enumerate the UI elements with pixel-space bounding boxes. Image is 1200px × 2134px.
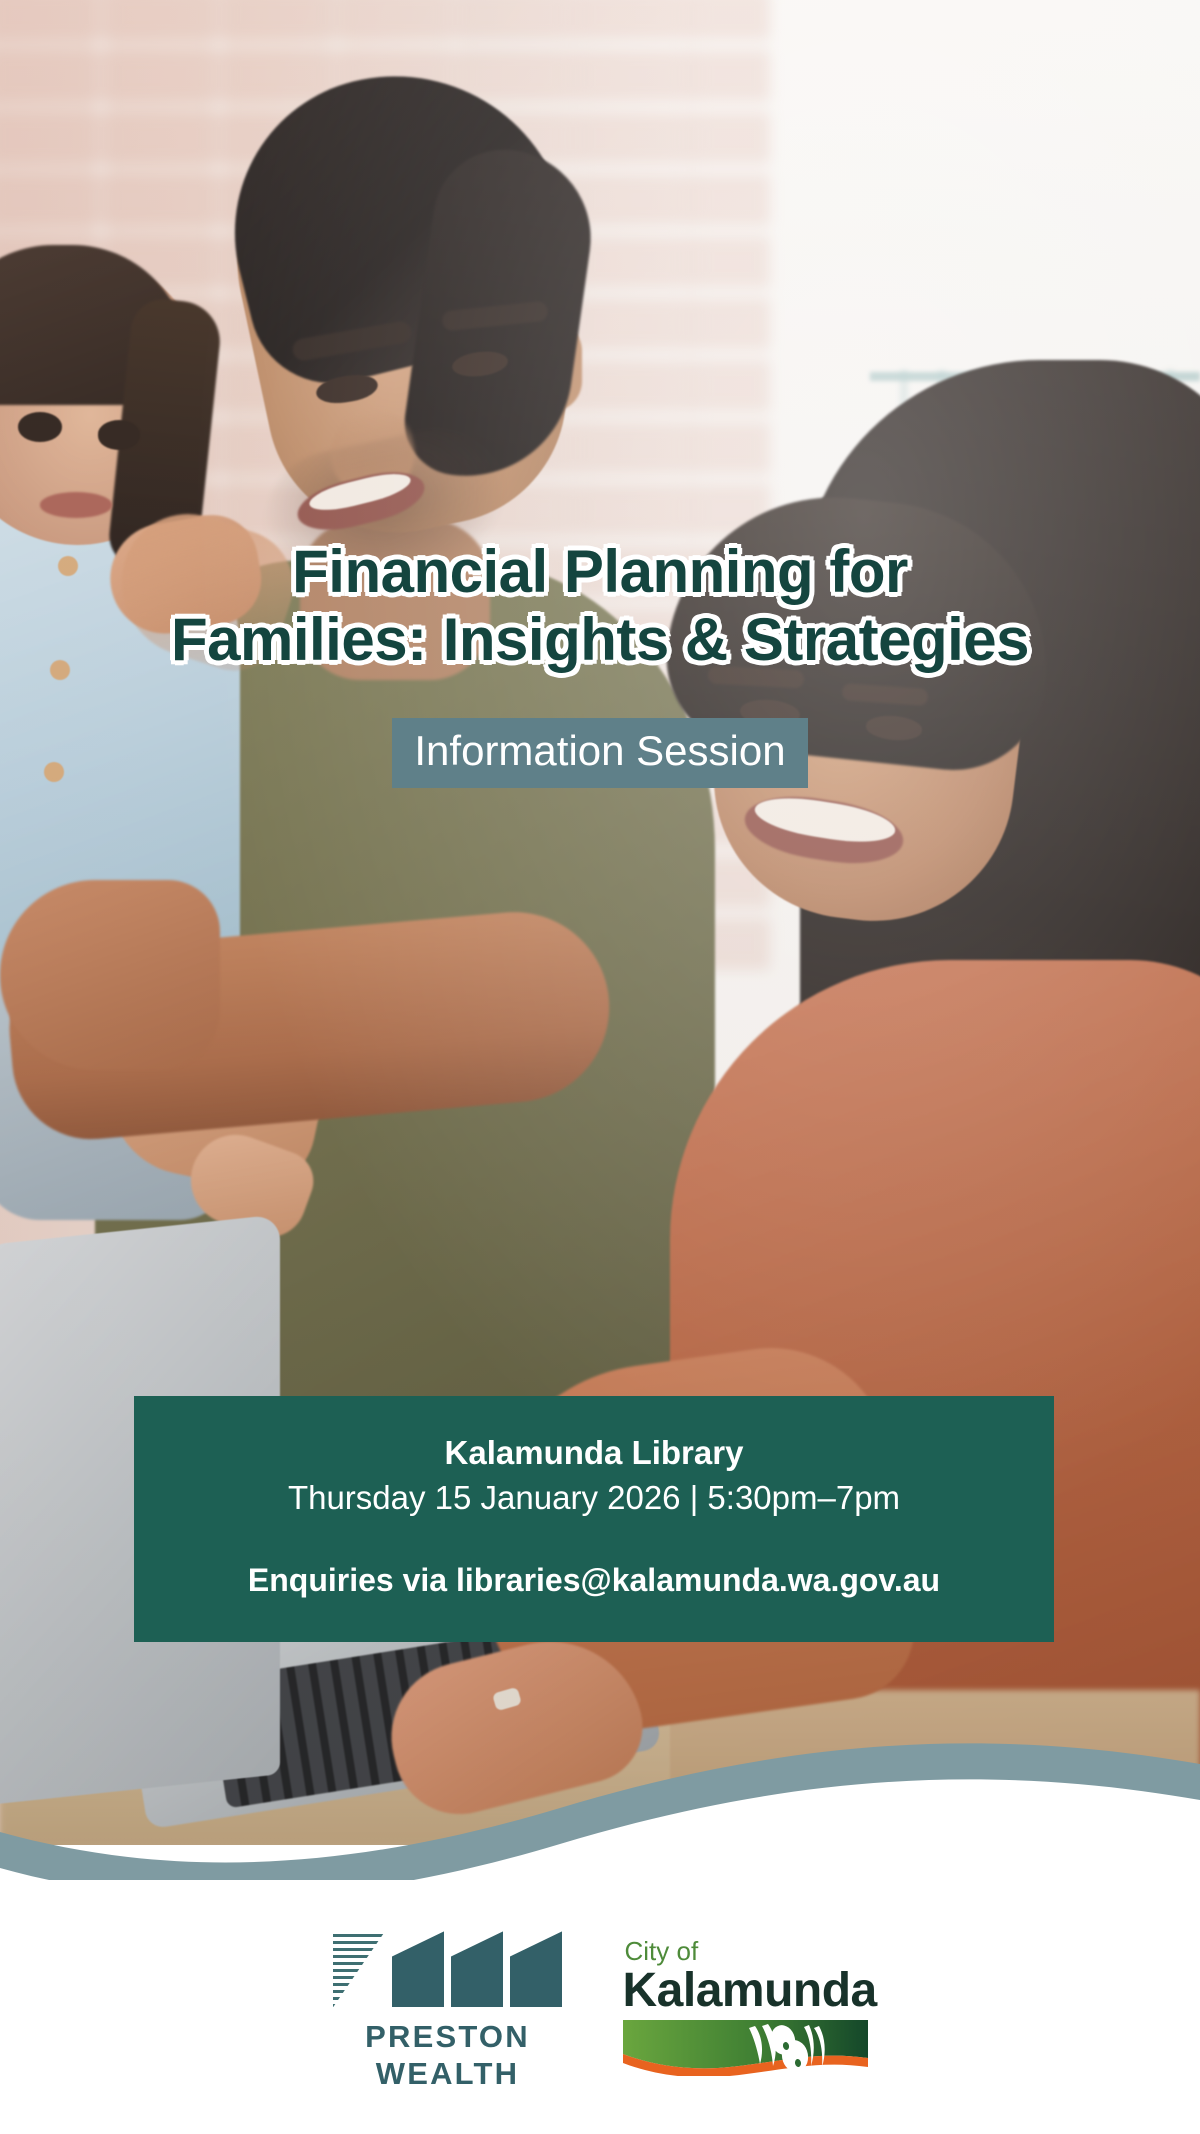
headline-line-1: Financial Planning for [292, 538, 908, 605]
page-title: Financial Planning for Families: Insight… [0, 538, 1200, 674]
headline-line-2: Families: Insights & Strategies [0, 606, 1200, 674]
baby-mouth [40, 492, 112, 518]
baby-eye-left [18, 412, 62, 442]
preston-wealth-logo: PRESTON WEALTH [333, 1921, 563, 2092]
kalamunda-emblem [623, 2020, 868, 2076]
event-details-box: Kalamunda Library Thursday 15 January 20… [134, 1396, 1054, 1642]
footer-logos: PRESTON WEALTH City of Kalamunda [0, 1880, 1200, 2134]
event-poster: Financial Planning for Families: Insight… [0, 0, 1200, 2134]
preston-word: PRESTON [365, 2019, 530, 2056]
man-forearm [0, 880, 220, 1070]
teal-triangle-icon [451, 1931, 503, 2007]
striped-triangle-icon [333, 1931, 385, 2007]
kalamunda-wordmark: Kalamunda [623, 1966, 868, 2016]
subtitle-container: Information Session [0, 718, 1200, 788]
teal-triangle-icon [510, 1931, 562, 2007]
baby-eye-right [98, 420, 140, 450]
teal-triangle-icon [392, 1931, 444, 2007]
venue-name: Kalamunda Library [164, 1432, 1024, 1473]
preston-mark-group [333, 1921, 562, 2007]
subtitle-badge: Information Session [392, 718, 807, 788]
kalamunda-wave-emblem [623, 2020, 868, 2076]
enquiries-line[interactable]: Enquiries via libraries@kalamunda.wa.gov… [164, 1560, 1024, 1602]
city-of-label: City of [623, 1938, 868, 1964]
preston-wealth-wordmark: PRESTON WEALTH [365, 2019, 530, 2092]
city-of-kalamunda-logo: City of Kalamunda [623, 1938, 868, 2075]
event-datetime: Thursday 15 January 2026 | 5:30pm–7pm [164, 1477, 1024, 1520]
wealth-word: WEALTH [365, 2056, 530, 2093]
